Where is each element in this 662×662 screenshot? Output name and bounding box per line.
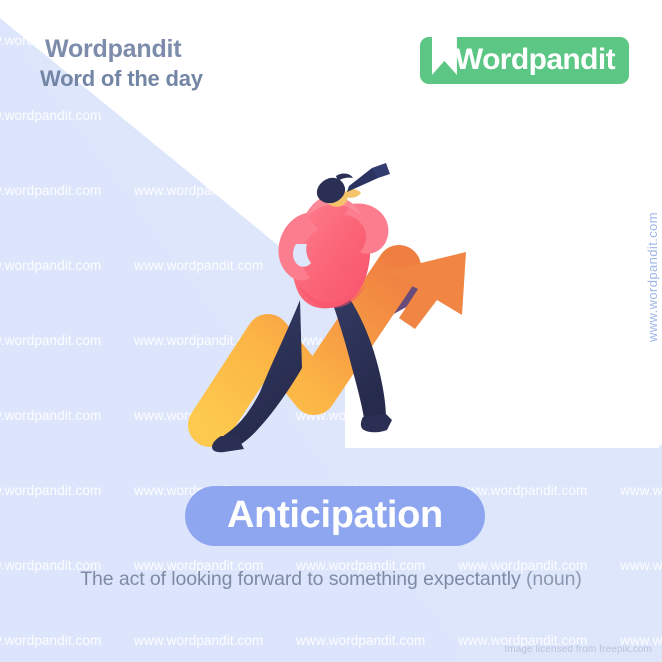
word-of-the-day-poster: www.wordpandit.comwww.wordpandit.comwww.… <box>0 0 662 662</box>
definition-line: The act of looking forward to something … <box>0 568 662 591</box>
brand-title: Wordpandit <box>45 36 203 62</box>
logo-text: Wordpandit <box>420 45 629 75</box>
hair-tuft <box>336 174 353 181</box>
definition-text: The act of looking forward to something … <box>80 568 520 590</box>
word-of-the-day: Anticipation <box>227 496 443 534</box>
header-block: Wordpandit Word of the day <box>40 36 203 93</box>
part-of-speech: (noun) <box>526 568 582 590</box>
word-badge: Anticipation <box>185 486 485 546</box>
brand-subtitle: Word of the day <box>40 65 203 93</box>
shoe-front <box>361 414 392 432</box>
wordpandit-logo[interactable]: Wordpandit <box>420 37 629 84</box>
illustration-person-with-telescope <box>0 0 662 662</box>
image-credit: Image licensed from freepik.com <box>504 644 652 655</box>
